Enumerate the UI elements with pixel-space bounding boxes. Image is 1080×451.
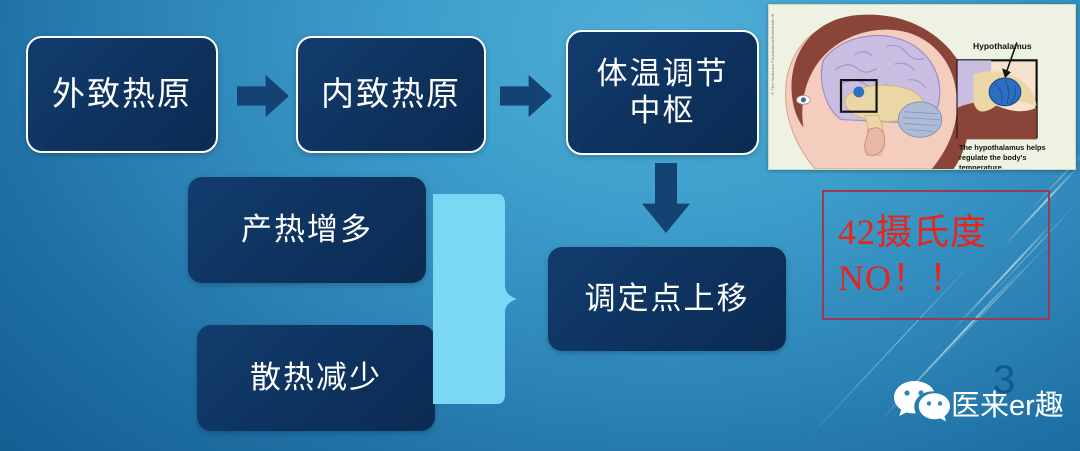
box-internal-pyrogen-label: 内致热原 <box>321 75 461 114</box>
arrow-center-to-setpoint <box>641 163 691 233</box>
box-set-point-elevation-label: 调定点上移 <box>585 281 750 318</box>
box-external-pyrogen-label: 外致热原 <box>52 75 192 114</box>
hypothalamus-label: Hypothalamus <box>973 41 1032 51</box>
box-heat-production-increase-label: 产热增多 <box>241 212 373 249</box>
box-external-pyrogen: 外致热原 <box>26 36 218 153</box>
box-heat-dissipation-decrease-label: 散热减少 <box>250 360 382 397</box>
warning-line-2: NO！！ <box>838 255 1048 301</box>
arrow-internal-to-center <box>500 74 552 118</box>
brace-connector-icon <box>425 190 530 408</box>
box-internal-pyrogen: 内致热原 <box>296 36 486 153</box>
wechat-logo-icon <box>893 378 951 422</box>
box-heat-dissipation-decrease: 散热减少 <box>197 325 435 431</box>
hypothalamus-caption: The hypothalamus helps regulate the body… <box>959 143 1055 170</box>
box-thermoregulatory-center-label: 体温调节 中枢 <box>597 56 729 129</box>
box-set-point-elevation: 调定点上移 <box>548 247 786 351</box>
box-heat-production-increase: 产热增多 <box>188 177 426 283</box>
warning-line-1: 42摄氏度 <box>838 209 1048 255</box>
slide-canvas: 外致热原内致热原体温调节 中枢产热增多散热减少调定点上移 42摄氏度 NO！！ <box>0 0 1080 451</box>
arrow-external-to-internal <box>237 74 289 118</box>
warning-callout-box: 42摄氏度 NO！！ <box>822 190 1050 320</box>
wechat-account-name: 医来er趣 <box>951 382 1064 424</box>
hypothalamus-illustration: ©The Nemours Foundation/KidsHealth® Hypo… <box>768 4 1076 170</box>
image-credit: ©The Nemours Foundation/KidsHealth® <box>770 13 775 96</box>
box-thermoregulatory-center: 体温调节 中枢 <box>566 30 759 155</box>
